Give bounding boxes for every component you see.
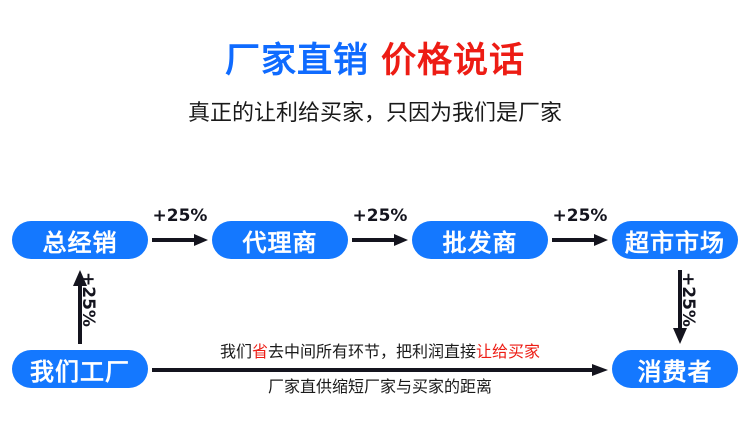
caption-segment-4-highlight: 让给买家 (476, 342, 540, 361)
arrow-head (673, 328, 687, 344)
markup-label-1: +25% (145, 206, 215, 226)
arrow-shaft (152, 368, 594, 372)
node-agent[interactable]: 代理商 (212, 221, 348, 259)
caption-segment-1: 我们 (220, 342, 252, 361)
arrow-right-icon-1 (152, 234, 208, 246)
markup-label-left-vertical: +25% (78, 272, 98, 327)
arrow-right-icon-3 (552, 234, 608, 246)
arrow-head (194, 234, 208, 246)
node-wholesaler[interactable]: 批发商 (412, 221, 548, 259)
arrow-right-icon-direct (152, 364, 608, 376)
page-title-blue-part: 厂家直销 (225, 41, 369, 81)
node-consumer[interactable]: 消费者 (612, 350, 738, 388)
node-supermarket[interactable]: 超市市场 (612, 221, 738, 259)
page-title: 厂家直销价格说话 (0, 44, 750, 79)
arrow-head (594, 234, 608, 246)
page-subtitle: 真正的让利给买家，只因为我们是厂家 (0, 100, 750, 129)
arrow-head (394, 234, 408, 246)
caption-segment-2-highlight: 省 (252, 342, 268, 361)
direct-supply-caption-top: 我们省去中间所有环节，把利润直接让给买家 (160, 342, 600, 361)
node-our-factory[interactable]: 我们工厂 (12, 350, 148, 388)
arrow-right-icon-2 (352, 234, 408, 246)
node-general-distributor[interactable]: 总经销 (12, 221, 148, 259)
markup-label-3: +25% (545, 206, 615, 226)
page-title-red-part: 价格说话 (381, 41, 525, 81)
caption-segment-3: 去中间所有环节，把利润直接 (268, 342, 476, 361)
arrow-shaft (152, 238, 196, 242)
markup-label-right-vertical: +25% (678, 272, 698, 327)
markup-label-2: +25% (345, 206, 415, 226)
direct-supply-caption-bottom: 厂家直供缩短厂家与买家的距离 (160, 377, 600, 396)
arrow-shaft (552, 238, 596, 242)
arrow-shaft (352, 238, 396, 242)
arrow-head (592, 364, 608, 376)
promo-banner: 厂家直销价格说话 真正的让利给买家，只因为我们是厂家 总经销 代理商 批发商 超… (0, 0, 750, 442)
